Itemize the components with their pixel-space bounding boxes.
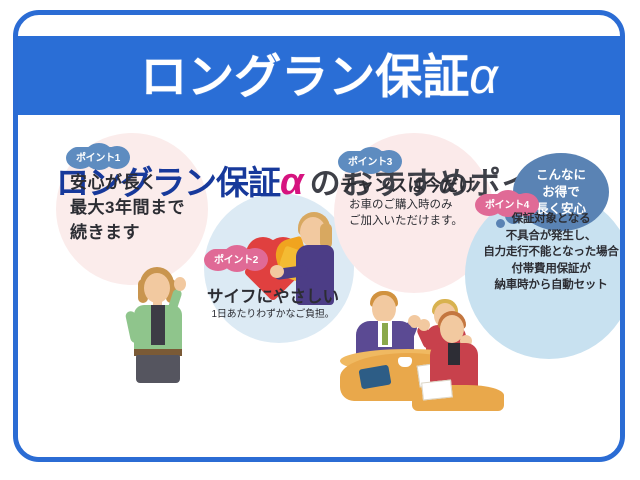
point-4-line: 納車時から自動セット	[470, 277, 620, 294]
point-1-line: 安心が長く	[70, 170, 185, 195]
poster-frame: ロングラン保証α ロングラン保証αのおすすめポイント こんなに お得で 長く安心	[13, 10, 625, 462]
point-4-text: 保証対象となる 不具合が発生し、 自力走行不能となった場合 付帯費用保証が 納車…	[470, 211, 620, 294]
point-1-text: 安心が長く 最大3年間まで 続きます	[70, 170, 185, 245]
badge-point-1: ポイント1	[66, 143, 130, 170]
title-banner: ロングラン保証α	[18, 36, 620, 115]
content-stage: ロングラン保証αのおすすめポイント こんなに お得で 長く安心	[18, 115, 620, 457]
point-3-text: チャンスは今だけ お車のご購入時のみ ご加入いただけます。	[340, 175, 476, 229]
badge-point-3-label: ポイント3	[338, 147, 402, 174]
banner-title-alpha: α	[469, 48, 498, 104]
speech-bubble-line: お得で	[542, 184, 580, 201]
point-1-line: 続きます	[70, 220, 185, 245]
illustration-woman-red	[422, 311, 494, 403]
badge-point-2-label: ポイント2	[204, 245, 268, 272]
badge-point-2: ポイント2	[204, 245, 268, 272]
point-3-subline: ご加入いただけます。	[349, 213, 476, 229]
advertisement-canvas: ロングラン保証α ロングラン保証αのおすすめポイント こんなに お得で 長く安心	[0, 0, 640, 480]
illustration-woman-green	[122, 267, 196, 385]
point-2-subline: 1日あたりわずかなご負担。	[200, 307, 346, 322]
banner-title: ロングラン保証α	[140, 51, 498, 101]
point-4-line: 付帯費用保証が	[470, 261, 620, 278]
banner-title-main: ロングラン保証	[140, 50, 469, 103]
point-2-text: サイフにやさしい 1日あたりわずかなご負担。	[200, 287, 346, 322]
speech-bubble-line: こんなに	[536, 167, 586, 184]
badge-point-3: ポイント3	[338, 147, 402, 174]
point-2-line: サイフにやさしい	[200, 287, 346, 307]
point-1-line: 最大3年間まで	[70, 195, 185, 220]
point-4-line: 保証対象となる	[470, 211, 620, 228]
badge-point-1-label: ポイント1	[66, 143, 130, 170]
point-4-line: 自力走行不能となった場合	[470, 244, 620, 261]
point-3-subline: お車のご購入時のみ	[349, 197, 476, 213]
point-3-line: チャンスは今だけ	[340, 175, 476, 197]
headline-alpha: α	[280, 161, 304, 203]
point-4-line: 不具合が発生し、	[470, 228, 620, 245]
